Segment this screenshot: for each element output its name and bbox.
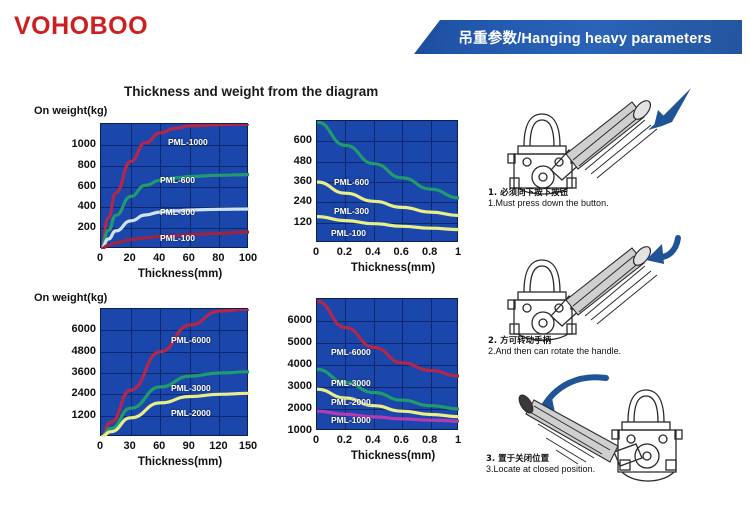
x-axis-tick: 0 xyxy=(313,434,319,446)
chart-panel-3: On weight(kg)PML-6000PML-3000PML-2000120… xyxy=(34,292,254,474)
chart-1-y-axis-title: On weight(kg) xyxy=(34,105,107,117)
x-axis-tick: 0.4 xyxy=(365,246,380,258)
y-axis-tick: 3600 xyxy=(34,366,96,378)
x-axis-tick: 1 xyxy=(455,246,461,258)
instruction-step-3: 3. 置于关闭位置 3.Locate at closed position. xyxy=(486,374,748,524)
y-axis-tick: 480 xyxy=(268,155,312,167)
x-axis-tick: 0.6 xyxy=(394,434,409,446)
chart-3-plot-area: PML-6000PML-3000PML-2000 xyxy=(100,308,248,436)
x-axis-tick: 0.6 xyxy=(394,246,409,258)
chart-4-series-layer xyxy=(317,299,459,431)
y-axis-tick: 400 xyxy=(34,200,96,212)
chart-4-x-axis-title: Thickness(mm) xyxy=(351,450,435,462)
x-axis-tick: 0 xyxy=(97,440,103,452)
chart-2-x-axis-title: Thickness(mm) xyxy=(351,262,435,274)
x-axis-tick: 0.4 xyxy=(365,434,380,446)
chart-4-plot-area: PML-6000PML-3000PML-2000PML-1000 xyxy=(316,298,458,430)
y-axis-tick: 800 xyxy=(34,159,96,171)
x-axis-tick: 20 xyxy=(123,252,135,264)
step-1-label-cn: 1. 必须向下按下按钮 xyxy=(488,186,568,198)
y-axis-tick: 5000 xyxy=(268,336,312,348)
lifting-magnet-device-drawing-2 xyxy=(494,230,694,350)
y-axis-tick: 3000 xyxy=(268,380,312,392)
y-axis-tick: 1000 xyxy=(268,424,312,436)
series-curve xyxy=(101,372,249,437)
header-banner: 吊重参数/Hanging heavy parameters xyxy=(414,20,742,54)
charts-section-title: Thickness and weight from the diagram xyxy=(124,84,378,99)
lifting-magnet-device-drawing-3 xyxy=(486,374,716,504)
x-axis-tick: 0.2 xyxy=(337,434,352,446)
x-axis-tick: 150 xyxy=(239,440,257,452)
y-axis-tick: 2000 xyxy=(268,402,312,414)
series-label: PML-3000 xyxy=(331,378,371,388)
series-curve xyxy=(317,301,459,376)
series-label: PML-6000 xyxy=(171,335,211,345)
series-label: PML-3000 xyxy=(171,383,211,393)
series-label: PML-1000 xyxy=(331,415,371,425)
step-3-label-cn: 3. 置于关闭位置 xyxy=(486,452,549,464)
x-axis-tick: 0.2 xyxy=(337,246,352,258)
chart-panel-2: PML-600PML-300PML-10012024036048060000.2… xyxy=(268,110,480,285)
series-label: PML-100 xyxy=(331,228,366,238)
x-axis-tick: 0.8 xyxy=(422,434,437,446)
x-axis-tick: 30 xyxy=(123,440,135,452)
brand-logo: VOHOBOO xyxy=(14,12,148,41)
series-label: PML-300 xyxy=(334,206,369,216)
y-axis-tick: 120 xyxy=(268,216,312,228)
chart-3-y-axis-title: On weight(kg) xyxy=(34,292,107,304)
step-2-label-en: 2.And then can rotate the handle. xyxy=(488,346,621,356)
arrow-down-left-icon xyxy=(648,88,691,130)
y-axis-tick: 240 xyxy=(268,195,312,207)
x-axis-tick: 120 xyxy=(209,440,227,452)
x-axis-tick: 80 xyxy=(212,252,224,264)
chart-panel-4: PML-6000PML-3000PML-2000PML-100010002000… xyxy=(268,288,480,474)
y-axis-tick: 2400 xyxy=(34,387,96,399)
step-2-label-cn: 2. 方可转动手柄 xyxy=(488,334,551,346)
y-axis-tick: 600 xyxy=(34,180,96,192)
chart-1-x-axis-title: Thickness(mm) xyxy=(138,268,222,280)
chart-panel-1: On weight(kg)PML-1000PML-600PML-300PML-1… xyxy=(34,105,254,285)
series-label: PML-300 xyxy=(160,207,195,217)
y-axis-tick: 200 xyxy=(34,221,96,233)
series-label: PML-6000 xyxy=(331,347,371,357)
instruction-step-1: 1. 必须向下按下按钮 1.Must press down the button… xyxy=(486,82,748,222)
series-label: PML-1000 xyxy=(168,137,208,147)
series-label: PML-600 xyxy=(334,177,369,187)
series-label: PML-2000 xyxy=(331,397,371,407)
x-axis-tick: 100 xyxy=(239,252,257,264)
chart-3-x-axis-title: Thickness(mm) xyxy=(138,456,222,468)
x-axis-tick: 60 xyxy=(153,440,165,452)
y-axis-tick: 4000 xyxy=(268,358,312,370)
x-axis-tick: 40 xyxy=(153,252,165,264)
x-axis-tick: 60 xyxy=(183,252,195,264)
y-axis-tick: 1200 xyxy=(34,409,96,421)
x-axis-tick: 0 xyxy=(313,246,319,258)
series-label: PML-2000 xyxy=(171,408,211,418)
y-axis-tick: 1000 xyxy=(34,138,96,150)
y-axis-tick: 6000 xyxy=(268,314,312,326)
series-label: PML-600 xyxy=(160,175,195,185)
chart-1-plot-area: PML-1000PML-600PML-300PML-100 xyxy=(100,123,248,248)
step-3-label-en: 3.Locate at closed position. xyxy=(486,464,595,474)
series-label: PML-100 xyxy=(160,233,195,243)
instruction-step-2: 2. 方可转动手柄 2.And then can rotate the hand… xyxy=(486,230,748,370)
y-axis-tick: 4800 xyxy=(34,345,96,357)
step-1-label-en: 1.Must press down the button. xyxy=(488,198,609,208)
chart-2-plot-area: PML-600PML-300PML-100 xyxy=(316,120,458,242)
x-axis-tick: 1 xyxy=(455,434,461,446)
x-axis-tick: 0.8 xyxy=(422,246,437,258)
x-axis-tick: 90 xyxy=(183,440,195,452)
banner-title: 吊重参数/Hanging heavy parameters xyxy=(414,20,742,54)
y-axis-tick: 360 xyxy=(268,175,312,187)
x-axis-tick: 0 xyxy=(97,252,103,264)
page-root: VOHOBOO 吊重参数/Hanging heavy parameters Th… xyxy=(0,0,750,532)
y-axis-tick: 6000 xyxy=(34,323,96,335)
y-axis-tick: 600 xyxy=(268,134,312,146)
